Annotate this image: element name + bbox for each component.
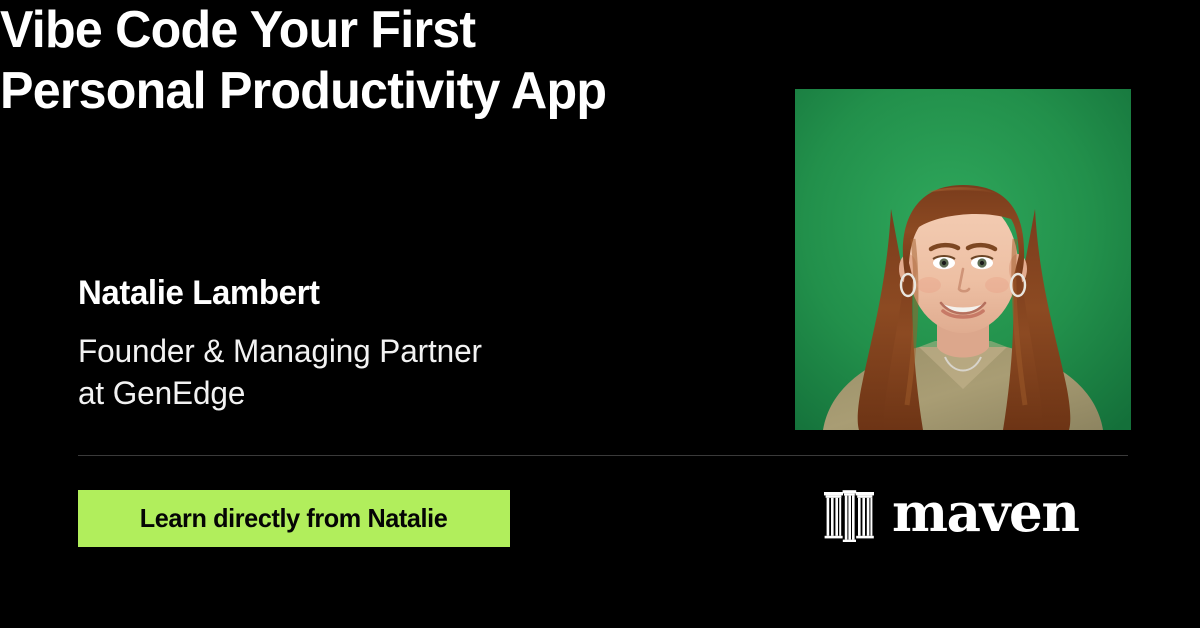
- speaker-avatar: [795, 89, 1131, 430]
- maven-columns-icon: [824, 488, 874, 542]
- learn-directly-button[interactable]: Learn directly from Natalie: [78, 490, 510, 547]
- promo-card: Vibe Code Your First Personal Productivi…: [0, 0, 1200, 628]
- speaker-block: Natalie Lambert Founder & Managing Partn…: [78, 272, 778, 414]
- maven-wordmark: maven: [892, 487, 1078, 540]
- cta-button-label: Learn directly from Natalie: [140, 503, 448, 534]
- maven-logo: maven: [824, 486, 1078, 544]
- speaker-role: Founder & Managing Partner at GenEdge: [78, 330, 768, 414]
- speaker-name: Natalie Lambert: [78, 272, 757, 314]
- divider: [78, 455, 1128, 456]
